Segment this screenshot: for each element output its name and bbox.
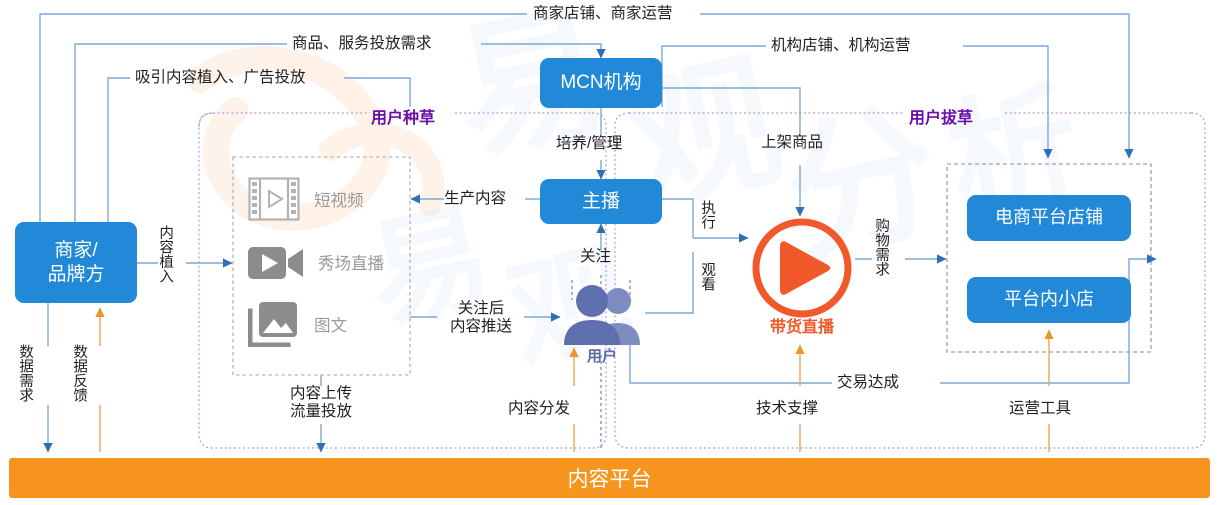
edge-label-follow-push-line2: 内容推送	[437, 318, 525, 336]
zone-title-left: 用户种草	[371, 104, 435, 128]
edge-label-content-upload-line1: 内容上传	[271, 385, 371, 403]
node-ecommerce-shop[interactable]: 电商平台店铺	[967, 195, 1131, 241]
edge-label-attract-placement: 吸引内容植入、广告投放	[135, 69, 306, 87]
merchant-label-line2: 品牌方	[47, 263, 104, 286]
node-anchor[interactable]: 主播	[540, 179, 662, 224]
edge-label-content-upload-traffic: 内容上传 流量投放	[271, 385, 371, 421]
node-merchant[interactable]: 商家/ 品牌方	[15, 222, 137, 303]
node-mcn-agency[interactable]: MCN机构	[540, 58, 662, 108]
merchant-label-line1: 商家/	[47, 239, 104, 262]
film-strip-icon	[248, 177, 300, 221]
edge-label-content-implant: 内容植入	[156, 225, 173, 283]
edge-label-operation-tools: 运营工具	[1009, 400, 1071, 418]
edge-label-follow-push-line1: 关注后	[437, 300, 525, 318]
content-type-show-live[interactable]: 秀场直播	[248, 241, 384, 283]
photo-stack-icon	[248, 301, 300, 347]
content-type-short-video[interactable]: 短视频	[248, 177, 364, 221]
edge-label-content-upload-line2: 流量投放	[271, 403, 371, 421]
live-commerce-label: 带货直播	[748, 313, 856, 337]
edge-label-content-distribution: 内容分发	[508, 400, 570, 418]
edge-label-follow: 关注	[580, 248, 611, 266]
edge-label-data-demand: 数据需求	[16, 344, 33, 402]
edge-label-data-feedback: 数据反馈	[70, 344, 87, 402]
edge-label-cultivate-manage: 培养/管理	[556, 135, 622, 153]
edge-label-merchant-shop-ops: 商家店铺、商家运营	[533, 5, 673, 23]
edge-label-follow-push: 关注后 内容推送	[437, 300, 525, 336]
edge-label-tech-support: 技术支撑	[756, 400, 818, 418]
edge-label-watch: 观看	[698, 262, 715, 291]
edge-label-produce-content: 生产内容	[444, 190, 506, 208]
edge-label-list-goods: 上架商品	[761, 134, 823, 152]
content-type-image-text[interactable]: 图文	[248, 301, 347, 347]
diagram-canvas: 易 观 分 析 易 观	[0, 0, 1219, 505]
video-camera-icon	[248, 241, 304, 283]
edge-label-transaction-done: 交易达成	[837, 374, 899, 392]
edge-label-agency-shop-ops: 机构店铺、机构运营	[771, 37, 911, 55]
zone-title-right: 用户拔草	[909, 104, 973, 128]
node-merchant-label: 商家/ 品牌方	[47, 239, 104, 285]
content-type-label: 短视频	[314, 187, 364, 211]
edge-label-shopping-demand: 购物需求	[872, 218, 889, 276]
edge-label-execute: 执行	[698, 200, 715, 229]
content-type-label: 图文	[314, 312, 347, 336]
edge-label-goods-service-demand: 商品、服务投放需求	[292, 35, 432, 53]
content-type-label: 秀场直播	[318, 250, 384, 274]
user-label: 用户	[556, 345, 648, 366]
node-content-platform[interactable]: 内容平台	[9, 458, 1210, 498]
node-in-platform-shop[interactable]: 平台内小店	[967, 277, 1131, 323]
